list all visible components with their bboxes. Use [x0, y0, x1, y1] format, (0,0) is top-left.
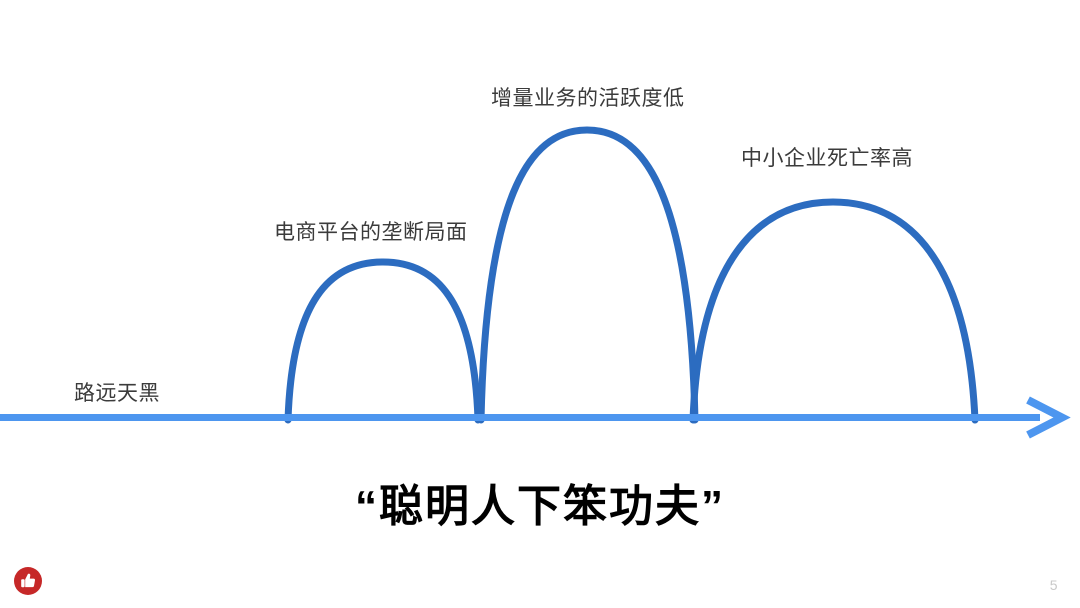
arch-2-label: 增量业务的活跃度低	[491, 86, 685, 112]
arch-1-label: 电商平台的垄断局面	[274, 220, 468, 246]
arch-1-curve	[288, 262, 478, 420]
arch-3-curve	[693, 202, 975, 420]
page-number: 5	[1050, 577, 1058, 593]
arch-2-curve	[481, 130, 695, 420]
arch-3-label: 中小企业死亡率高	[741, 146, 913, 172]
timeline-axis-label: 路远天黑	[74, 381, 160, 407]
slide-canvas: 路远天黑 电商平台的垄断局面 增量业务的活跃度低 中小企业死亡率高 “聪明人下笨…	[0, 0, 1080, 608]
thumbs-up-icon	[13, 566, 43, 596]
slide-headline: “聪明人下笨功夫”	[0, 470, 1080, 534]
